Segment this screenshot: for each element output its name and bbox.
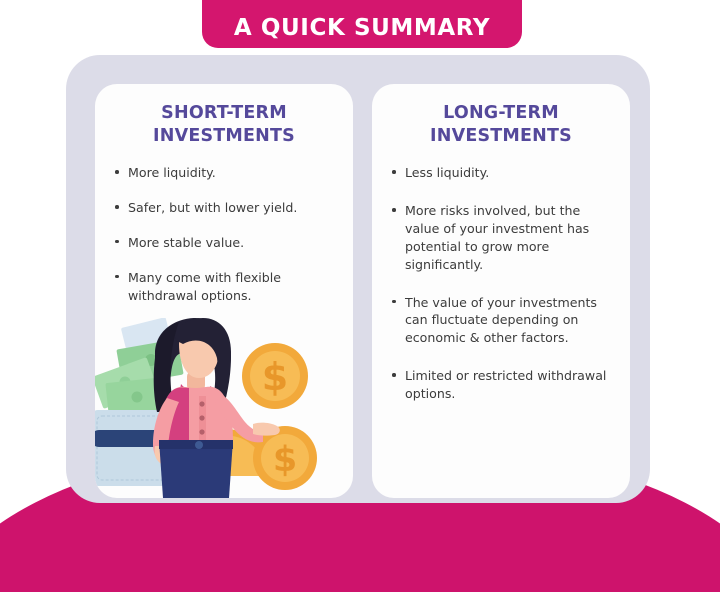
bullet-dot-icon: [392, 373, 396, 377]
list-item: The value of your investments can fluctu…: [392, 294, 610, 348]
long-term-title-line-2: INVESTMENTS: [392, 125, 610, 148]
list-item: Limited or restricted withdrawal options…: [392, 367, 610, 403]
card-long-term: LONG-TERM INVESTMENTS Less liquidity. Mo…: [372, 84, 630, 498]
bullet-text: More liquidity.: [128, 165, 216, 180]
card-short-term: SHORT-TERM INVESTMENTS More liquidity. S…: [95, 84, 353, 498]
woman-with-money-illustration: $ $: [95, 318, 353, 498]
card-short-term-content: SHORT-TERM INVESTMENTS More liquidity. S…: [95, 84, 353, 305]
bullet-text: More risks involved, but the value of yo…: [405, 203, 589, 272]
long-term-title: LONG-TERM INVESTMENTS: [392, 102, 610, 148]
svg-text:$: $: [273, 440, 297, 480]
bullet-dot-icon: [392, 300, 396, 304]
infographic-canvas: SHORT-TERM INVESTMENTS More liquidity. S…: [0, 0, 720, 592]
svg-text:$: $: [262, 355, 288, 399]
bullet-text: The value of your investments can fluctu…: [405, 295, 597, 346]
short-term-title-line-2: INVESTMENTS: [115, 125, 333, 148]
bullet-dot-icon: [115, 205, 119, 209]
gold-coin-large-icon: $: [242, 343, 308, 409]
summary-banner: A QUICK SUMMARY: [202, 0, 522, 48]
short-term-title: SHORT-TERM INVESTMENTS: [115, 102, 333, 148]
banner-title: A QUICK SUMMARY: [234, 15, 490, 41]
list-item: More risks involved, but the value of yo…: [392, 202, 610, 274]
long-term-title-line-1: LONG-TERM: [392, 102, 610, 125]
bullet-text: Limited or restricted withdrawal options…: [405, 368, 606, 401]
short-term-bullet-list: More liquidity. Safer, but with lower yi…: [115, 164, 333, 304]
bullet-text: More stable value.: [128, 235, 244, 250]
bullet-dot-icon: [115, 240, 119, 244]
short-term-title-line-1: SHORT-TERM: [115, 102, 333, 125]
list-item: More liquidity.: [115, 164, 333, 182]
list-item: More stable value.: [115, 234, 333, 252]
bullet-text: Safer, but with lower yield.: [128, 200, 297, 215]
bullet-text: Many come with flexible withdrawal optio…: [128, 270, 281, 303]
bullet-dot-icon: [392, 170, 396, 174]
bullet-text: Less liquidity.: [405, 165, 489, 180]
bullet-dot-icon: [392, 208, 396, 212]
list-item: Many come with flexible withdrawal optio…: [115, 269, 333, 305]
long-term-bullet-list: Less liquidity. More risks involved, but…: [392, 164, 610, 403]
bullet-dot-icon: [115, 170, 119, 174]
list-item: Less liquidity.: [392, 164, 610, 182]
list-item: Safer, but with lower yield.: [115, 199, 333, 217]
bullet-dot-icon: [115, 275, 119, 279]
card-long-term-content: LONG-TERM INVESTMENTS Less liquidity. Mo…: [372, 84, 630, 403]
